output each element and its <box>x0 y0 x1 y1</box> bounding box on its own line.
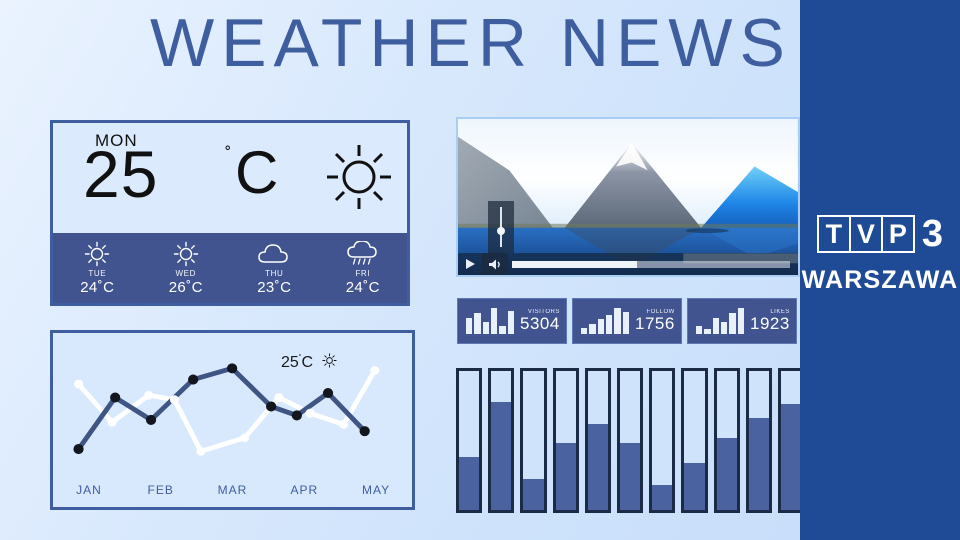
tvp-logo: T V P 3 WARSZAWA <box>800 215 960 295</box>
stat-bar <box>721 322 727 334</box>
forecast-day-temp: 23˚C <box>230 279 319 296</box>
current-temperature: 25 <box>83 141 158 207</box>
tvp-letter-boxes: T V P 3 <box>817 215 943 253</box>
stat-card-follow[interactable]: FOLLOW 1756 <box>572 298 682 344</box>
gauge-bar[interactable] <box>681 368 707 513</box>
stat-bar <box>598 319 604 334</box>
x-tick-label: MAR <box>197 483 269 497</box>
data-point <box>274 393 283 402</box>
stat-bar <box>729 313 735 334</box>
chart-x-axis: JAN FEB MAR APR MAY <box>53 483 412 497</box>
forecast-day[interactable]: THU 23˚C <box>230 241 319 296</box>
stat-bar <box>696 326 702 334</box>
forecast-day[interactable]: WED 26˚C <box>142 241 231 296</box>
degree-symbol: ˚ <box>225 145 231 167</box>
volume-icon[interactable] <box>482 253 508 275</box>
gauge-bar[interactable] <box>488 368 514 513</box>
sun-icon <box>322 353 337 368</box>
stat-bar <box>483 322 489 334</box>
forecast-day-label: WED <box>142 269 231 278</box>
gauge-bar-chart <box>456 368 804 513</box>
stat-bar <box>614 308 620 334</box>
line-chart-plot <box>53 333 412 507</box>
page-title: WEATHER NEWS <box>150 2 850 84</box>
stat-card-visitors[interactable]: VISITORS 5304 <box>457 298 567 344</box>
data-point <box>170 395 179 404</box>
tvp-letter-v: V <box>849 215 883 253</box>
data-point <box>73 444 83 454</box>
gauge-bar[interactable] <box>456 368 482 513</box>
video-player[interactable] <box>456 117 800 277</box>
stat-sparkline <box>696 308 744 334</box>
chart-badge-unit: C <box>301 354 313 371</box>
stat-bar <box>581 328 587 334</box>
x-tick-label: APR <box>268 483 340 497</box>
gauge-bar-fill <box>684 463 704 510</box>
stat-label: LIKES <box>750 309 790 315</box>
gauge-bar-fill <box>620 443 640 510</box>
forecast-day-label: THU <box>230 269 319 278</box>
data-point <box>266 401 276 411</box>
stat-label: VISITORS <box>520 309 560 315</box>
dashboard-stage: WEATHER NEWS MON 25 ˚ C <box>0 0 960 540</box>
gauge-bar[interactable] <box>617 368 643 513</box>
gauge-bar-fill <box>717 438 737 510</box>
sun-icon <box>142 241 231 267</box>
stat-bar <box>499 326 505 334</box>
x-tick-label: JAN <box>53 483 125 497</box>
temperature-line-chart: 25˚C JAN FEB MAR APR MAY <box>50 330 415 510</box>
sun-icon <box>325 143 393 211</box>
current-weather-main: MON 25 ˚ C <box>53 123 407 233</box>
data-point <box>370 366 379 375</box>
data-point <box>323 388 333 398</box>
x-tick-label: FEB <box>125 483 197 497</box>
data-point <box>240 433 249 442</box>
stat-bar <box>589 324 595 334</box>
forecast-day-label: FRI <box>319 269 408 278</box>
rain-cloud-icon <box>319 241 408 267</box>
stat-bar <box>466 318 472 334</box>
forecast-day[interactable]: FRI 24˚C <box>319 241 408 296</box>
stat-bar <box>623 312 629 334</box>
play-icon[interactable] <box>458 253 482 275</box>
tvp-channel-number: 3 <box>922 215 943 253</box>
forecast-day-temp: 24˚C <box>319 279 408 296</box>
gauge-bar[interactable] <box>746 368 772 513</box>
forecast-strip: TUE 24˚C WED 26˚C <box>53 233 407 303</box>
x-tick-label: MAY <box>340 483 412 497</box>
data-point <box>144 391 153 400</box>
data-point <box>306 409 315 418</box>
current-weather-card: MON 25 ˚ C <box>50 120 410 306</box>
data-point <box>360 426 370 436</box>
gauge-bar-fill <box>749 418 769 510</box>
data-point <box>227 363 237 373</box>
gauge-bar-fill <box>459 457 479 510</box>
gauge-bar-fill <box>523 479 543 510</box>
brand-panel: T V P 3 WARSZAWA <box>800 0 960 540</box>
stat-label: FOLLOW <box>635 309 675 315</box>
data-point <box>146 415 156 425</box>
video-progress-fill <box>512 261 637 268</box>
volume-slider-knob[interactable] <box>497 227 505 235</box>
volume-slider[interactable] <box>488 201 514 253</box>
stat-bar <box>606 315 612 334</box>
data-point <box>339 420 348 429</box>
forecast-day-label: TUE <box>53 269 142 278</box>
data-point <box>292 410 302 420</box>
forecast-day[interactable]: TUE 24˚C <box>53 241 142 296</box>
stat-text: LIKES 1923 <box>750 309 790 333</box>
video-controls <box>458 253 798 275</box>
stat-bar <box>738 308 744 334</box>
data-point <box>108 418 117 427</box>
tvp-letter-p: P <box>881 215 915 253</box>
stat-value: 1756 <box>635 315 675 333</box>
gauge-bar-fill <box>588 424 608 510</box>
data-point <box>74 380 83 389</box>
tvp-letter-t: T <box>817 215 851 253</box>
chart-badge-temp: 25 <box>281 354 299 371</box>
tvp-city-label: WARSZAWA <box>800 266 960 295</box>
stat-sparkline <box>466 308 514 334</box>
forecast-day-temp: 24˚C <box>53 279 142 296</box>
sun-icon <box>53 241 142 267</box>
stat-value: 5304 <box>520 315 560 333</box>
gauge-bar[interactable] <box>714 368 740 513</box>
stat-value: 1923 <box>750 315 790 333</box>
stat-text: FOLLOW 1756 <box>635 309 675 333</box>
stat-bar <box>508 311 514 334</box>
forecast-day-temp: 26˚C <box>142 279 231 296</box>
chart-temperature-badge: 25˚C <box>281 353 337 372</box>
stat-bar <box>491 308 497 334</box>
temperature-unit: C <box>235 143 278 203</box>
stat-bar <box>474 313 480 334</box>
gauge-bar[interactable] <box>649 368 675 513</box>
video-progress-bar[interactable] <box>512 261 790 268</box>
stat-sparkline <box>581 308 629 334</box>
gauge-bar-fill <box>556 443 576 510</box>
gauge-bar-fill <box>652 485 672 510</box>
gauge-bar[interactable] <box>585 368 611 513</box>
gauge-bar[interactable] <box>520 368 546 513</box>
stat-bar <box>713 318 719 334</box>
gauge-bar-fill <box>491 402 511 510</box>
data-point <box>110 392 120 402</box>
gauge-bar[interactable] <box>553 368 579 513</box>
stat-text: VISITORS 5304 <box>520 309 560 333</box>
cloud-icon <box>230 241 319 267</box>
data-point <box>196 447 205 456</box>
stat-bar <box>704 329 710 334</box>
data-point <box>188 375 198 385</box>
gauge-bar-fill <box>781 404 801 510</box>
stat-card-likes[interactable]: LIKES 1923 <box>687 298 797 344</box>
